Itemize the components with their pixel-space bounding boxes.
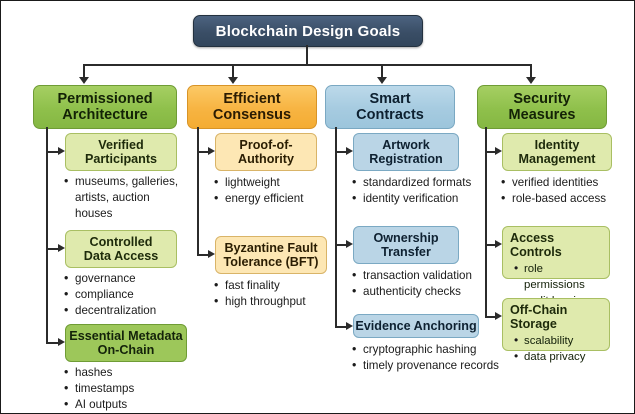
node-ownership-transfer: Ownership Transfer xyxy=(353,226,459,264)
arrow-down-col2 xyxy=(228,77,238,84)
diagram-canvas: Blockchain Design Goals Permissioned Arc… xyxy=(15,11,621,403)
column-header-line2: Consensus xyxy=(213,107,291,123)
list-item: scalability xyxy=(524,333,603,349)
bullets-artwork-registration: standardized formats identity verificati… xyxy=(351,175,501,207)
node-access-controls: Access Controls role permissions audit l… xyxy=(502,226,610,279)
node-identity-management: Identity Management xyxy=(502,133,612,171)
list-item: transaction validation xyxy=(351,268,506,284)
arrow-right-col3-node3 xyxy=(346,322,353,330)
node-title-line2: On-Chain xyxy=(66,343,186,357)
column-header-line1: Efficient xyxy=(213,91,291,107)
column-header-line2: Architecture xyxy=(57,107,152,123)
list-item: standardized formats xyxy=(351,175,501,191)
list-item: authenticity checks xyxy=(351,284,506,300)
node-proof-of-authority: Proof-of- Authority xyxy=(215,133,317,171)
connector-spine-col3 xyxy=(335,127,337,327)
node-title-line1: Off-Chain Storage xyxy=(510,303,603,332)
node-title-line2: Transfer xyxy=(354,245,458,259)
arrow-right-col1-node2 xyxy=(58,244,65,252)
list-item: data privacy xyxy=(524,349,603,365)
node-verified-participants: Verified Participants xyxy=(65,133,177,171)
node-title-line1: Controlled xyxy=(66,235,176,249)
bullets-identity-management: verified identities role-based access xyxy=(500,175,625,207)
node-title-line1: Byzantine Fault xyxy=(216,241,326,255)
bullets-ownership-transfer: transaction validation authenticity chec… xyxy=(351,268,506,300)
list-item: compliance xyxy=(63,287,188,303)
node-title-line1: Proof-of- xyxy=(216,138,316,152)
node-title-line1: Verified xyxy=(66,138,176,152)
arrow-right-col2-node2 xyxy=(208,250,215,258)
column-header-smart-contracts: Smart Contracts xyxy=(325,85,455,129)
connector-spine-col2 xyxy=(197,127,199,255)
arrow-right-col4-node3 xyxy=(495,312,502,320)
column-header-line1: Security xyxy=(509,91,576,107)
list-item: cryptographic hashing xyxy=(351,342,516,358)
arrow-right-col1-node1 xyxy=(58,147,65,155)
list-item: timely provenance records xyxy=(351,358,516,374)
connector-drop-col2 xyxy=(232,64,234,78)
arrow-right-col4-node2 xyxy=(495,240,502,248)
bullets-verified-participants: museums, galleries, artists, auction hou… xyxy=(63,174,183,221)
arrow-down-col1 xyxy=(79,77,89,84)
connector-drop-col4 xyxy=(530,64,532,78)
node-title-line2: Participants xyxy=(66,152,176,166)
list-item: verified identities xyxy=(500,175,625,191)
column-header-line1: Permissioned xyxy=(57,91,152,107)
list-item: hashes xyxy=(63,365,183,381)
node-title-line1: Identity xyxy=(503,138,611,152)
column-header-efficient-consensus: Efficient Consensus xyxy=(187,85,317,129)
arrow-down-col3 xyxy=(377,77,387,84)
list-item: AI outputs xyxy=(63,397,183,413)
arrow-right-col3-node1 xyxy=(346,147,353,155)
node-title-line2: Management xyxy=(503,152,611,166)
column-header-line2: Contracts xyxy=(356,107,424,123)
list-item: identity verification xyxy=(351,191,501,207)
list-item: role-based access xyxy=(500,191,625,207)
list-item: lightweight xyxy=(213,175,333,191)
bullets-off-chain-storage: scalability data privacy xyxy=(510,333,603,365)
bullets-proof-of-authority: lightweight energy efficient xyxy=(213,175,333,207)
arrow-right-col1-node3 xyxy=(58,338,65,346)
connector-drop-col1 xyxy=(83,64,85,78)
list-item: role permissions xyxy=(524,261,603,293)
root-node-blockchain-design-goals: Blockchain Design Goals xyxy=(193,15,423,47)
list-item: museums, galleries, artists, auction hou… xyxy=(63,174,183,221)
arrow-right-col3-node2 xyxy=(346,240,353,248)
node-title-line1: Essential Metadata xyxy=(66,329,186,343)
node-title-line2: Data Access xyxy=(66,249,176,263)
column-header-permissioned-architecture: Permissioned Architecture xyxy=(33,85,177,129)
connector-spine-col1 xyxy=(46,127,48,343)
list-item: fast finality xyxy=(213,278,338,294)
node-byzantine-fault-tolerance: Byzantine Fault Tolerance (BFT) xyxy=(215,236,327,274)
diagram-frame: Blockchain Design Goals Permissioned Arc… xyxy=(0,0,635,414)
column-header-line1: Smart xyxy=(356,91,424,107)
column-header-security-measures: Security Measures xyxy=(477,85,607,129)
arrow-right-col4-node1 xyxy=(495,147,502,155)
node-title-line1: Evidence Anchoring xyxy=(354,319,478,333)
list-item: high throughput xyxy=(213,294,338,310)
node-off-chain-storage: Off-Chain Storage scalability data priva… xyxy=(502,298,610,351)
list-item: energy efficient xyxy=(213,191,333,207)
connector-root-stem xyxy=(306,45,308,65)
root-node-label: Blockchain Design Goals xyxy=(216,23,401,40)
node-title-line2: Authority xyxy=(216,152,316,166)
bullets-essential-metadata-on-chain: hashes timestamps AI outputs xyxy=(63,365,183,412)
list-item: governance xyxy=(63,271,188,287)
list-item: timestamps xyxy=(63,381,183,397)
bullets-controlled-data-access: governance compliance decentralization xyxy=(63,271,188,318)
connector-spine-col4 xyxy=(485,127,487,317)
node-evidence-anchoring: Evidence Anchoring xyxy=(353,314,479,338)
arrow-right-col2-node1 xyxy=(208,147,215,155)
node-artwork-registration: Artwork Registration xyxy=(353,133,459,171)
column-header-line2: Measures xyxy=(509,107,576,123)
node-controlled-data-access: Controlled Data Access xyxy=(65,230,177,268)
node-essential-metadata-on-chain: Essential Metadata On-Chain xyxy=(65,324,187,362)
list-item: decentralization xyxy=(63,303,188,319)
bullets-byzantine-fault-tolerance: fast finality high throughput xyxy=(213,278,338,310)
bullets-evidence-anchoring: cryptographic hashing timely provenance … xyxy=(351,342,516,374)
arrow-down-col4 xyxy=(526,77,536,84)
node-title-line2: Registration xyxy=(354,152,458,166)
connector-bus xyxy=(83,64,530,66)
node-title-line2: Tolerance (BFT) xyxy=(216,255,326,269)
node-title-line1: Ownership xyxy=(354,231,458,245)
node-title-line1: Access Controls xyxy=(510,231,603,260)
node-title-line1: Artwork xyxy=(354,138,458,152)
connector-drop-col3 xyxy=(381,64,383,78)
